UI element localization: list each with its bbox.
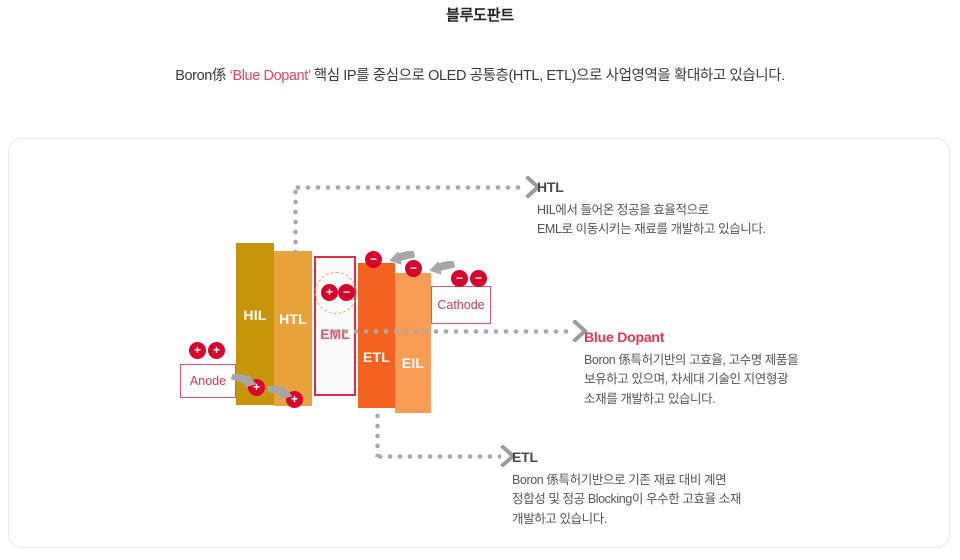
annotation-blue-dopant-body: Boron 係특허기반의 고효율, 고수명 제품을 보유하고 있으며, 차세대 …	[584, 351, 914, 409]
connector-htl-vertical	[293, 187, 298, 253]
layer-bar-eil: EIL	[395, 273, 431, 413]
layer-bar-etl: ETL	[358, 263, 395, 408]
layer-bar-htl: HTL	[274, 251, 312, 406]
layer-label-etl: ETL	[358, 349, 395, 365]
annotation-htl-title: HTL	[537, 179, 867, 195]
arrow-hole-2-icon	[267, 386, 297, 400]
charge-negative-cathode-2: −	[470, 270, 487, 287]
subtitle-part-1: Boron係	[175, 68, 229, 84]
arrow-hole-1-icon	[231, 374, 261, 388]
annotation-htl: HTL HIL에서 들어온 정공을 효율적으로 EML로 이동시키는 재료를 개…	[537, 179, 867, 240]
layer-bar-eml: + − EML	[314, 256, 356, 396]
page-subtitle: Boron係 ‘Blue Dopant’ 핵심 IP를 중심으로 OLED 공통…	[0, 64, 960, 85]
connector-blue-dopant-horizontal	[331, 329, 573, 334]
subtitle-part-2: 핵심 IP를 중심으로 OLED 공통층(HTL, ETL)으로 사업영역을 확…	[310, 68, 785, 84]
charge-positive-anode-1: +	[189, 342, 206, 359]
electrode-anode: Anode	[180, 364, 236, 398]
connector-etl-vertical	[375, 411, 380, 457]
charge-negative-exciton: −	[338, 284, 355, 301]
arrow-electron-1-icon	[385, 251, 415, 265]
annotation-etl-body: Boron 係특허기반으로 기존 재료 대비 계면 정합성 및 정공 Block…	[512, 471, 852, 529]
layer-label-eil: EIL	[395, 355, 431, 371]
diagram-card: HIL HTL + − EML ETL EIL Anode Cathode + …	[8, 138, 950, 548]
subtitle-accent-blue-dopant: ‘Blue Dopant’	[230, 68, 311, 84]
connector-etl-horizontal	[375, 454, 501, 459]
annotation-blue-dopant-title: Blue Dopant	[584, 329, 914, 345]
charge-positive-anode-2: +	[208, 342, 225, 359]
annotation-htl-body: HIL에서 들어온 정공을 효율적으로 EML로 이동시키는 재료를 개발하고 …	[537, 201, 867, 240]
electrode-cathode: Cathode	[431, 286, 491, 324]
charge-negative-drift-1: −	[365, 251, 382, 268]
annotation-etl: ETL Boron 係특허기반으로 기존 재료 대비 계면 정합성 및 정공 B…	[512, 449, 852, 529]
page-title: 블루도판트	[0, 4, 960, 25]
annotation-blue-dopant: Blue Dopant Boron 係특허기반의 고효율, 고수명 제품을 보유…	[584, 329, 914, 409]
annotation-etl-title: ETL	[512, 449, 852, 465]
connector-htl-horizontal	[293, 185, 525, 190]
charge-positive-exciton: +	[321, 284, 338, 301]
layer-label-htl: HTL	[274, 311, 312, 327]
layer-label-hil: HIL	[236, 307, 274, 323]
arrow-electron-2-icon	[425, 261, 455, 275]
